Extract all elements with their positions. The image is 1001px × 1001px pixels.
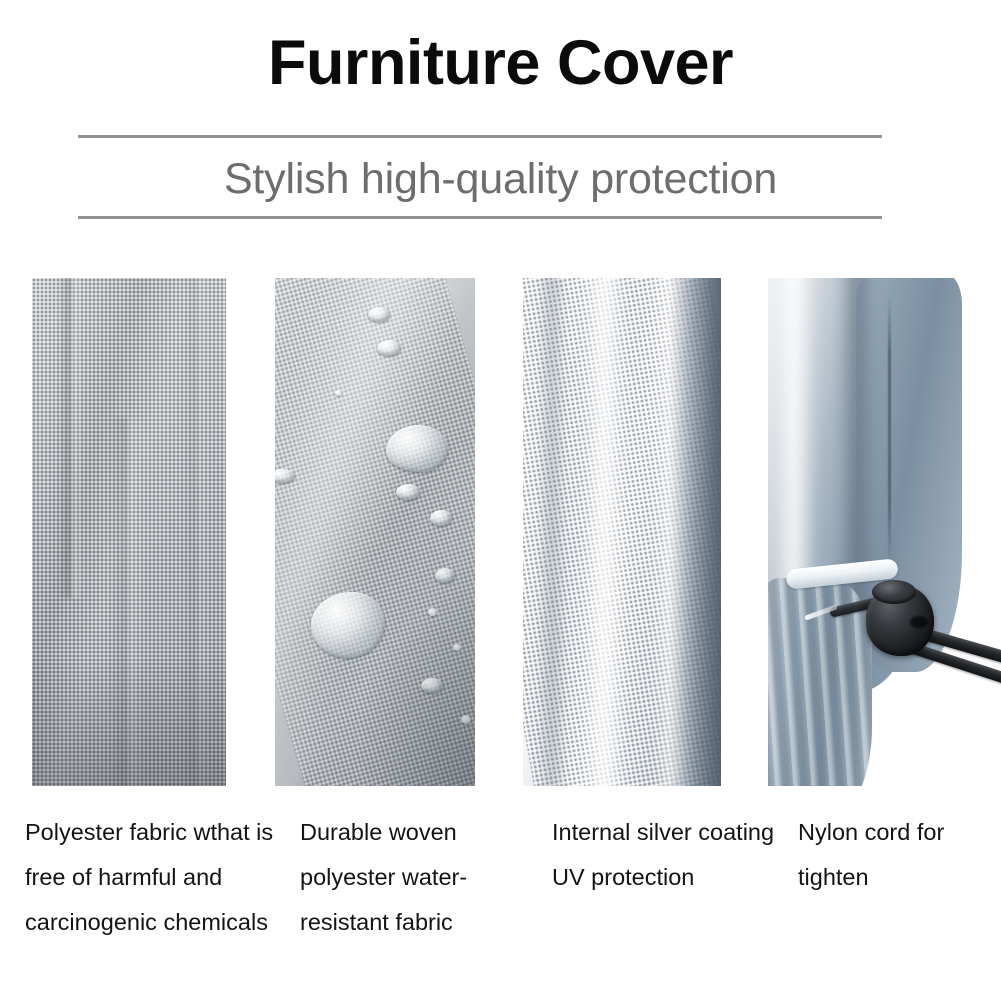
feature-caption-polyester-fabric: Polyester fabric wthat is free of harmfu… [25, 810, 275, 945]
water-droplet-small [335, 390, 342, 396]
feature-caption-silver-coating: Internal silver coating UV protection [552, 810, 782, 900]
fabric-fold-highlight [581, 278, 627, 786]
fabric-fold-shadow [537, 278, 567, 786]
fabric-crease [58, 278, 84, 598]
feature-image-water-resistant [275, 278, 475, 786]
feature-image-polyester-fabric [32, 278, 226, 786]
cord-lock-hole-shadow [910, 616, 928, 628]
cord-lock-button [872, 580, 916, 604]
feature-image-nylon-cord [768, 278, 1001, 786]
fabric-shadow-bottom [32, 656, 226, 786]
fabric-shadow-bottom-right [355, 486, 475, 786]
water-droplet-large [386, 425, 448, 472]
water-droplet [377, 340, 401, 356]
water-droplet [368, 307, 390, 322]
feature-image-silver-coating [523, 278, 721, 786]
feature-caption-water-resistant: Durable woven polyester water-resistant … [300, 810, 525, 945]
cover-fabric-seam [888, 296, 891, 564]
feature-caption-nylon-cord: Nylon cord for tighten [798, 810, 998, 900]
fabric-dark-edge [669, 278, 721, 786]
